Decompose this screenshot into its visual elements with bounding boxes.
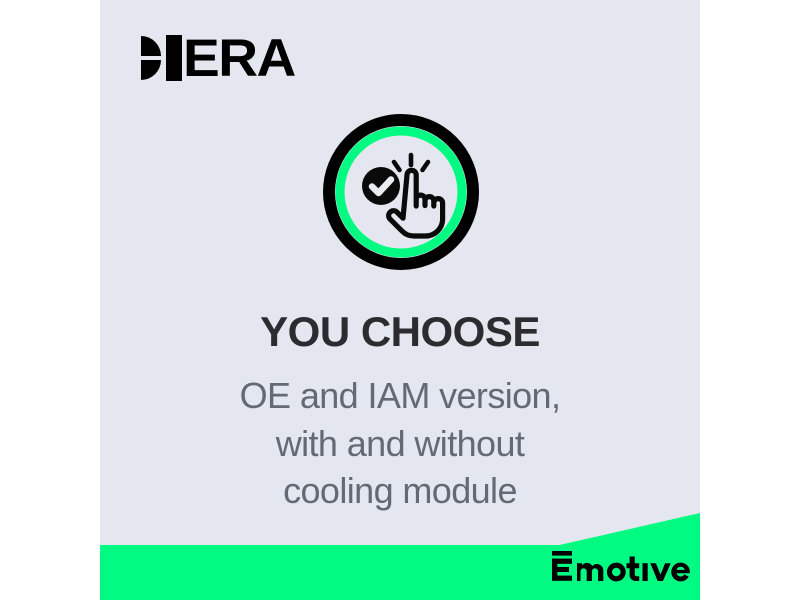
tap-spark-icon (394, 155, 428, 170)
brand-wordmark: ERA (183, 32, 295, 85)
headline: YOU CHOOSE (100, 310, 700, 354)
ad-canvas: ERA (0, 0, 800, 600)
body-copy: OE and IAM version, with and without coo… (100, 372, 700, 515)
body-copy-line: with and without (100, 420, 700, 468)
promo-card: ERA (100, 0, 700, 600)
footer-diagonal-accent (555, 513, 700, 546)
emotive-wordmark-icon (550, 550, 690, 584)
emotive-logo (550, 551, 690, 583)
click-choice-icon (322, 113, 480, 271)
era-arc-mark-icon (138, 33, 184, 83)
body-copy-line: OE and IAM version, (100, 372, 700, 420)
check-badge-icon (362, 167, 400, 205)
hero-icon (322, 113, 480, 271)
body-copy-line: cooling module (100, 467, 700, 515)
brand-logo: ERA (138, 32, 290, 84)
